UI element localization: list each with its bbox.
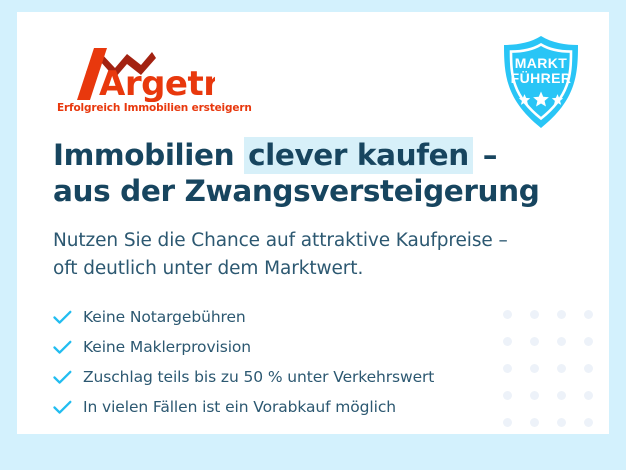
decorative-dot [584,391,593,400]
check-icon [53,340,83,355]
decorative-dot [557,418,566,427]
decorative-dot [557,364,566,373]
check-icon [53,370,83,385]
decorative-dot [584,310,593,319]
check-icon [53,400,83,415]
list-item-label: Keine Maklerprovision [83,338,251,356]
decorative-dot [584,337,593,346]
market-leader-badge: MARKT FÜHRER [489,30,593,134]
list-item-label: In vielen Fällen ist ein Vorabkauf mögli… [83,398,396,416]
advertisement-frame: Argetra Erfolgreich Immobilien ersteiger… [0,0,626,470]
shield-badge-icon [489,30,593,134]
list-item: Zuschlag teils bis zu 50 % unter Verkehr… [53,362,533,392]
decorative-dot [584,418,593,427]
list-item: Keine Notargebühren [53,302,533,332]
headline-line-2: aus der Zwangsversteigerung [53,174,539,208]
list-item: In vielen Fällen ist ein Vorabkauf mögli… [53,392,533,422]
headline-prefix: Immobilien [53,138,244,172]
list-item-label: Zuschlag teils bis zu 50 % unter Verkehr… [83,368,434,386]
argetra-logo[interactable]: Argetra Erfolgreich Immobilien ersteiger… [55,42,215,120]
subheading-line-2: oft deutlich unter dem Marktwert. [53,258,363,279]
check-icon [53,310,83,325]
list-item-label: Keine Notargebühren [83,308,246,326]
subheading-line-1: Nutzen Sie die Chance auf attraktive Kau… [53,230,508,251]
decorative-dot [557,391,566,400]
benefits-list: Keine Notargebühren Keine Maklerprovisio… [53,302,533,422]
argetra-roof-a-mark: Argetra [55,42,215,102]
headline-line-1: Immobilien clever kaufen – [53,137,497,174]
headline: Immobilien clever kaufen – aus der Zwang… [53,137,553,209]
headline-suffix: – [473,138,497,172]
subheading: Nutzen Sie die Chance auf attraktive Kau… [53,227,553,283]
logo-tagline: Erfolgreich Immobilien ersteigern [57,102,252,114]
decorative-dot [584,364,593,373]
decorative-dot [557,337,566,346]
list-item: Keine Maklerprovision [53,332,533,362]
decorative-dot [557,310,566,319]
advertisement-card: Argetra Erfolgreich Immobilien ersteiger… [17,12,609,434]
svg-text:Argetra: Argetra [99,64,215,102]
headline-highlight: clever kaufen [244,137,473,174]
